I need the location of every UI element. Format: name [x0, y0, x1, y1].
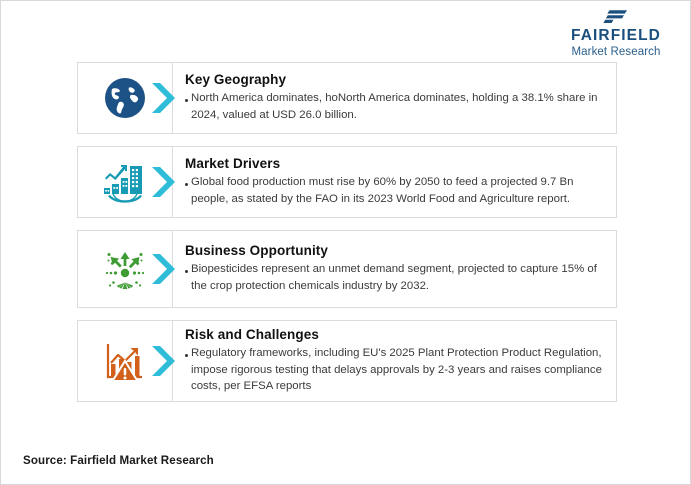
radiating-arrows-icon: [100, 244, 150, 294]
bullet-icon: [185, 99, 188, 102]
card-body: Business Opportunity Biopesticides repre…: [185, 231, 616, 307]
card-title: Market Drivers: [185, 156, 602, 173]
card-body: Key Geography North America dominates, h…: [185, 63, 616, 133]
globe-icon: [102, 75, 148, 121]
card-description: North America dominates, hoNorth America…: [191, 90, 602, 124]
source-note: Source: Fairfield Market Research: [23, 454, 214, 467]
insight-card-list: Key Geography North America dominates, h…: [77, 62, 617, 414]
card-description: Regulatory frameworks, including EU's 20…: [191, 345, 602, 396]
card-body: Risk and Challenges Regulatory framework…: [185, 321, 616, 401]
card-body: Market Drivers Global food production mu…: [185, 147, 616, 217]
bullet-icon: [185, 183, 188, 186]
brand-name: FAIRFIELD: [571, 28, 661, 44]
card-title: Business Opportunity: [185, 243, 602, 260]
brand-logo: FAIRFIELD Market Research: [556, 9, 676, 55]
insight-card-key-geography: Key Geography North America dominates, h…: [77, 62, 617, 134]
insight-card-business-opportunity: Business Opportunity Biopesticides repre…: [77, 230, 617, 308]
chevron-right-icon: [147, 63, 185, 133]
city-growth-chart-icon: [101, 158, 149, 206]
bullet-icon: [185, 270, 188, 273]
card-description: Biopesticides represent an unmet demand …: [191, 261, 602, 295]
infographic-page: FAIRFIELD Market Research: [0, 0, 691, 485]
card-title: Key Geography: [185, 72, 602, 89]
fairfield-f-mark-icon: [603, 9, 629, 26]
brand-tagline: Market Research: [571, 45, 660, 59]
chevron-right-icon: [147, 147, 185, 217]
card-title: Risk and Challenges: [185, 327, 602, 344]
chart-warning-icon: [101, 337, 149, 385]
chevron-right-icon: [147, 321, 185, 401]
insight-card-market-drivers: Market Drivers Global food production mu…: [77, 146, 617, 218]
chevron-right-icon: [147, 231, 185, 307]
insight-card-risk-and-challenges: Risk and Challenges Regulatory framework…: [77, 320, 617, 402]
bullet-icon: [185, 354, 188, 357]
card-description: Global food production must rise by 60% …: [191, 174, 602, 208]
